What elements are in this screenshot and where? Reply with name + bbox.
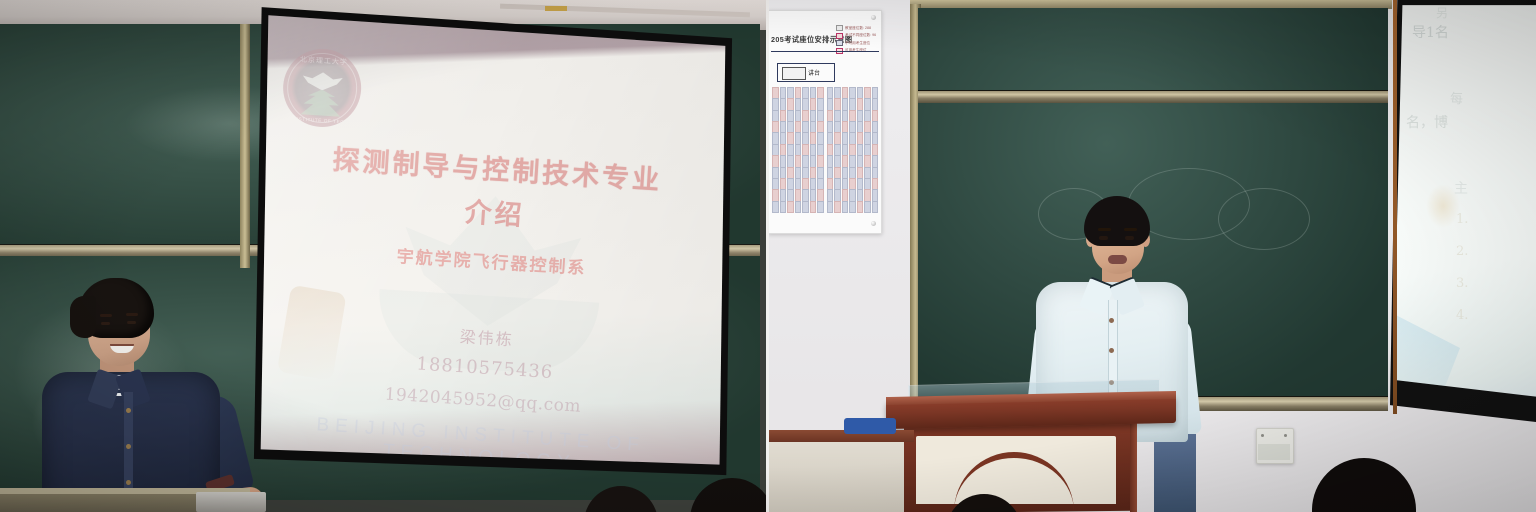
panel-seam xyxy=(766,0,769,512)
shirt-button xyxy=(126,444,131,449)
poster-screw xyxy=(871,15,876,20)
screenshot-root: 北京理工大学 BEIJING INSTITUTE OF TECHNOLOGY 探… xyxy=(0,0,1536,512)
legend-swatch xyxy=(836,25,843,31)
seat-row xyxy=(827,110,879,120)
instructor-brow xyxy=(126,313,138,316)
screen-side-edge xyxy=(1393,0,1397,414)
screen-surface: 北京理工大学 BEIJING INSTITUTE OF TECHNOLOGY 探… xyxy=(252,0,734,478)
screen-surface: 另 导1名 每 名，博 主 1. 2. 3. 4. xyxy=(1390,0,1536,422)
seat-row xyxy=(772,201,824,211)
seat-row xyxy=(772,144,824,154)
poster-podium-marker: 讲台 xyxy=(777,63,835,82)
seat-row xyxy=(772,155,824,165)
seat-cell xyxy=(842,201,849,213)
left-photo-panel: 北京理工大学 BEIJING INSTITUTE OF TECHNOLOGY 探… xyxy=(0,0,768,512)
screen2-line5: 主 xyxy=(1454,178,1468,198)
chalk-rail-upper-right xyxy=(918,90,1388,103)
screen2-line3: 每 xyxy=(1450,88,1463,107)
seat-row xyxy=(772,178,824,188)
instructor-eye xyxy=(101,322,110,325)
seat-cell xyxy=(780,201,787,213)
seat-cell xyxy=(864,201,871,213)
side-cabinet xyxy=(768,438,914,512)
projection-screen-left: 北京理工大学 BEIJING INSTITUTE OF TECHNOLOGY 探… xyxy=(252,0,734,478)
legend-label: 不可用考生座位 xyxy=(845,41,870,46)
seat-cell xyxy=(772,201,779,213)
screen2-line1: 另 xyxy=(1436,4,1448,21)
legend-swatch xyxy=(836,40,843,46)
screen2-list-item: 1. xyxy=(1456,212,1468,227)
screen2-line4: 名，博 xyxy=(1406,112,1448,132)
instructor-brow xyxy=(100,314,112,317)
legend-swatch xyxy=(836,33,843,39)
speaker-brow xyxy=(1098,228,1111,231)
seat-block xyxy=(772,87,824,211)
seat-cell xyxy=(795,201,802,213)
speaker-jeans xyxy=(1154,434,1196,512)
legend-row: 考试不同座位数: 96 xyxy=(836,33,878,39)
screen2-line2: 导1名 xyxy=(1412,22,1449,42)
screen2-list-item: 3. xyxy=(1456,276,1468,291)
screen2-list-item: 2. xyxy=(1456,244,1468,259)
seat-row xyxy=(827,98,879,108)
seat-block xyxy=(827,87,879,211)
seat-cell xyxy=(857,201,864,213)
seat-row xyxy=(772,87,824,97)
shirt-button xyxy=(1109,348,1114,353)
right-photo-panel: 205考试座位安排示意图 教室座位数: 288 考试不同座位数: 96 不可用考… xyxy=(768,0,1536,512)
legend-row: 不可用考生座位 xyxy=(836,40,878,46)
seat-row xyxy=(772,189,824,199)
seat-row xyxy=(827,121,879,131)
seat-cell xyxy=(849,201,856,213)
poster-screw xyxy=(871,221,876,226)
seat-row xyxy=(772,132,824,142)
laptop-left xyxy=(196,492,266,512)
presentation-slide: 北京理工大学 BEIJING INSTITUTE OF TECHNOLOGY 探… xyxy=(237,0,748,493)
seat-cell xyxy=(834,201,841,213)
speaker-eye xyxy=(1125,236,1134,240)
wall-box-screw xyxy=(1261,434,1264,437)
speaker-mouth xyxy=(1108,255,1127,264)
poster-divider xyxy=(771,51,879,52)
podium-icon xyxy=(782,67,806,80)
seat-row xyxy=(827,167,879,177)
university-crest-icon: 北京理工大学 BEIJING INSTITUTE OF TECHNOLOGY xyxy=(281,47,364,130)
chalkboard-divider xyxy=(240,24,250,268)
seat-row xyxy=(772,98,824,108)
speaker-brow xyxy=(1124,228,1137,231)
blue-object-on-cabinet xyxy=(844,418,896,434)
shirt-button xyxy=(126,480,131,485)
seat-cell xyxy=(787,201,794,213)
speaker-eye xyxy=(1099,236,1108,240)
wall-box-screw xyxy=(1284,434,1287,437)
seat-row xyxy=(827,155,879,165)
seat-row xyxy=(772,167,824,177)
seat-cell xyxy=(802,201,809,213)
projection-screen-right: 另 导1名 每 名，博 主 1. 2. 3. 4. xyxy=(1390,0,1536,422)
chalk-mark xyxy=(1218,188,1310,250)
seat-row xyxy=(827,132,879,142)
seat-cell xyxy=(810,201,817,213)
poster-seat-grid xyxy=(772,87,878,211)
legend-label: 教室座位数: 288 xyxy=(845,26,871,31)
legend-row: 教室座位数: 288 xyxy=(836,25,878,31)
shirt-button xyxy=(1109,318,1114,323)
legend-label: 考试不同座位数: 96 xyxy=(845,33,876,38)
seat-cell xyxy=(827,201,834,213)
seat-row xyxy=(827,178,879,188)
seat-row xyxy=(827,201,879,211)
seat-row xyxy=(827,189,879,199)
wall-box-body xyxy=(1258,444,1290,460)
seat-cell xyxy=(817,201,824,213)
seat-row xyxy=(827,87,879,97)
podium-label: 讲台 xyxy=(808,68,820,77)
seat-row xyxy=(772,110,824,120)
shirt-button xyxy=(126,408,131,413)
screen2-list-item: 4. xyxy=(1456,308,1468,323)
seat-row xyxy=(827,144,879,154)
exam-seating-chart-poster: 205考试座位安排示意图 教室座位数: 288 考试不同座位数: 96 不可用考… xyxy=(768,10,882,234)
seat-cell xyxy=(872,201,879,213)
seat-row xyxy=(772,121,824,131)
instructor-eye xyxy=(127,321,136,324)
instructor-hair-side xyxy=(70,296,96,338)
